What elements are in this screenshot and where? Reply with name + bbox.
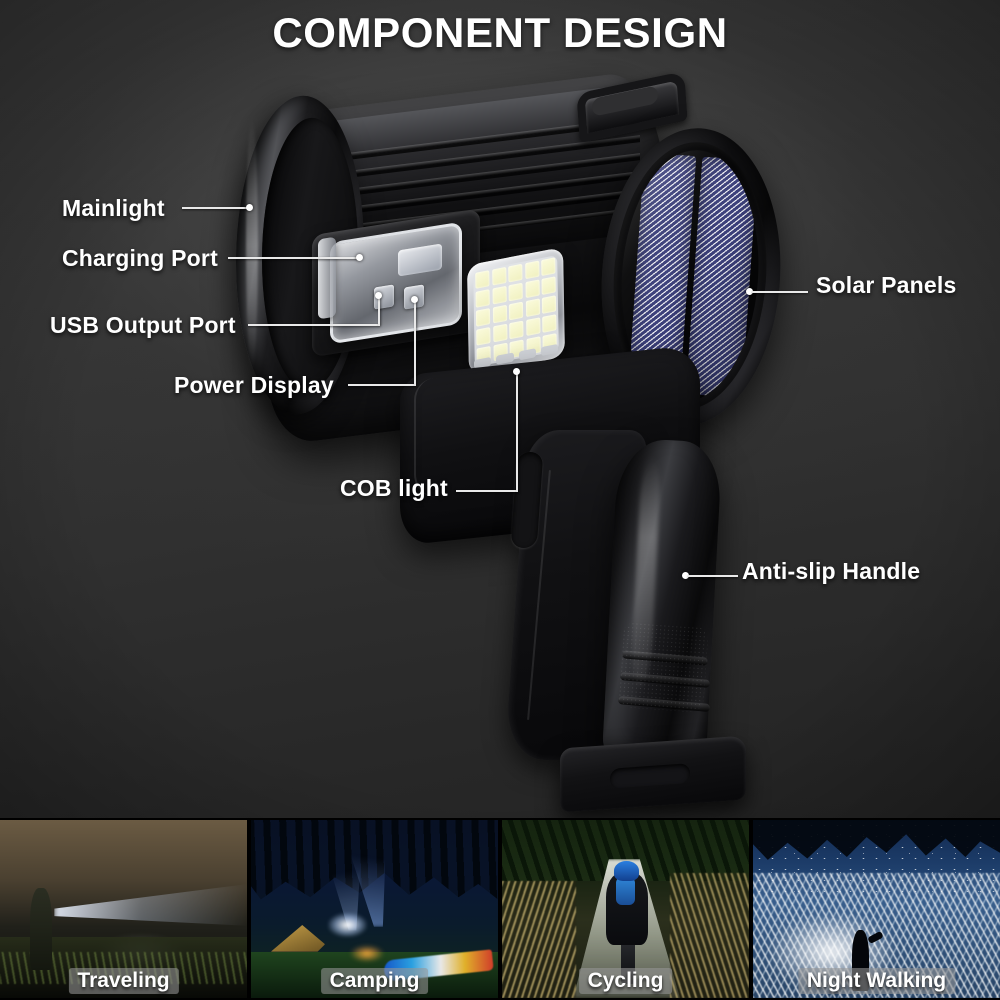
brush-right xyxy=(670,873,749,998)
leader-dot-usb-output xyxy=(375,292,382,299)
usage-scene-strip: Traveling Camping Cycling xyxy=(0,818,1000,1000)
leader-line-solar-panels xyxy=(752,291,808,293)
usage-scene-traveling[interactable]: Traveling xyxy=(0,820,247,998)
usage-scene-caption: Cycling xyxy=(579,968,673,994)
leader-line-power-display xyxy=(348,384,416,386)
leader-dot-mainlight xyxy=(246,204,253,211)
usage-scene-caption: Camping xyxy=(321,968,429,994)
tent xyxy=(271,923,325,951)
callout-label-cob-light: COB light xyxy=(340,475,448,502)
leader-line-cob-light xyxy=(456,490,518,492)
grip-texture xyxy=(617,621,709,713)
port-cover-tab xyxy=(318,237,336,320)
callout-label-power-display: Power Display xyxy=(174,372,334,399)
callout-label-charging-port: Charging Port xyxy=(62,245,218,272)
callout-label-anti-slip-handle: Anti-slip Handle xyxy=(742,558,920,585)
leader-elbow-power-display xyxy=(414,300,416,386)
leader-dot-charging-port xyxy=(356,254,363,261)
usage-scene-night-walking[interactable]: Night Walking xyxy=(753,820,1000,998)
helmet xyxy=(614,861,639,881)
leader-line-mainlight xyxy=(182,207,248,209)
leader-line-anti-slip-handle xyxy=(688,575,738,577)
port-rubber-cover xyxy=(330,222,462,345)
leader-line-charging-port xyxy=(228,257,358,259)
leader-elbow-usb-output xyxy=(378,296,380,326)
light-beam xyxy=(54,884,247,937)
usage-scene-caption: Night Walking xyxy=(798,968,955,994)
brush-left xyxy=(502,881,576,998)
backpack xyxy=(616,877,636,905)
leader-dot-power-display xyxy=(411,296,418,303)
campfire-glow xyxy=(350,945,385,963)
usage-scene-caption: Traveling xyxy=(68,968,178,994)
leader-dot-cob-light xyxy=(513,368,520,375)
leader-elbow-cob-light xyxy=(516,372,518,492)
callout-label-solar-panels: Solar Panels xyxy=(816,272,956,299)
callout-label-usb-output: USB Output Port xyxy=(50,312,236,339)
bezel-highlight xyxy=(246,119,258,370)
usage-scene-camping[interactable]: Camping xyxy=(251,820,498,998)
leader-line-usb-output xyxy=(248,324,380,326)
callout-label-mainlight: Mainlight xyxy=(62,195,165,222)
lantern-light xyxy=(328,913,368,938)
hiker-silhouette xyxy=(30,888,52,970)
anti-slip-grip xyxy=(601,438,722,773)
usage-scene-cycling[interactable]: Cycling xyxy=(502,820,749,998)
component-design-infographic: COMPONENT DESIGN xyxy=(0,0,1000,1000)
